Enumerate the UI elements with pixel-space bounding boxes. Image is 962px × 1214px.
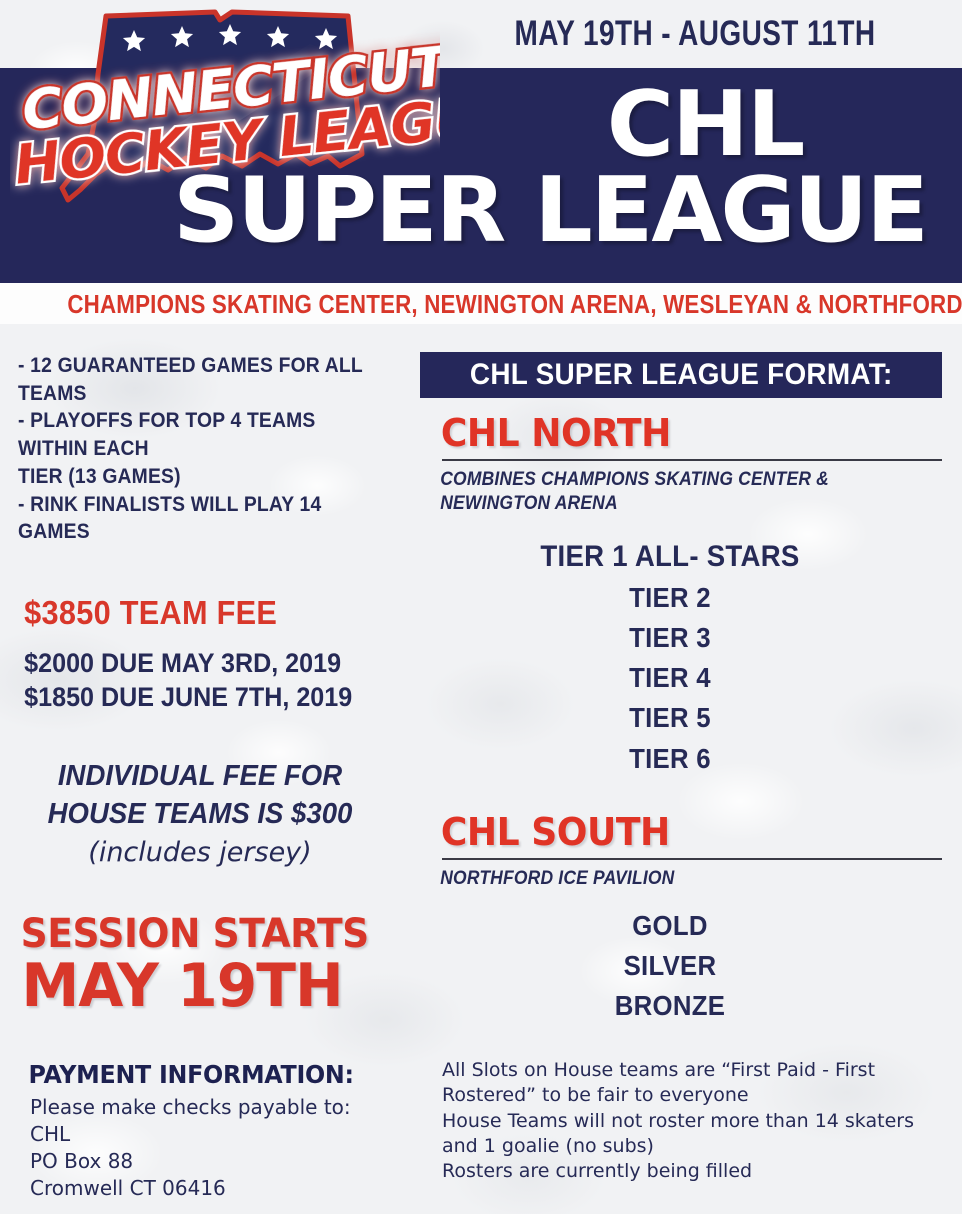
right-column: CHL SUPER LEAGUE FORMAT: CHL NORTH COMBI… — [420, 352, 962, 1184]
fee-installment-1: $2000 DUE MAY 3RD, 2019 — [0, 646, 386, 680]
region-title-south: CHL SOUTH — [420, 813, 935, 851]
list-item: TIER 3 — [440, 618, 900, 658]
payment-line: Please make checks payable to: — [30, 1094, 415, 1121]
list-item: TIER 1 ALL- STARS — [440, 536, 900, 579]
payment-information-body: Please make checks payable to: CHL PO Bo… — [0, 1094, 415, 1214]
tier-list-north: TIER 1 ALL- STARS TIER 2 TIER 3 TIER 4 T… — [420, 536, 920, 779]
poster-root: MAY 19TH - AUGUST 11TH CHL SUPER LEAGUE … — [0, 0, 962, 1214]
list-item: TIER 5 — [440, 698, 900, 738]
payment-line: Cromwell CT 06416 — [30, 1175, 415, 1202]
note-line: All Slots on House teams are “First Paid… — [442, 1058, 932, 1108]
connecticut-hockey-league-logo: CONNECTICUT HOCKEY LEAGUE — [10, 4, 440, 219]
list-item: - PLAYOFFS FOR TOP 4 TEAMS WITHIN EACH — [18, 407, 383, 462]
page-title-line1: CHL — [465, 83, 944, 167]
region-subtitle-south: NORTHFORD ICE PAVILION — [420, 867, 862, 891]
individual-fee-note: (includes jersey) — [0, 837, 400, 868]
format-heading-bar: CHL SUPER LEAGUE FORMAT: — [420, 352, 942, 398]
region-title-north: CHL NORTH — [420, 414, 935, 452]
list-item: - 12 GUARANTEED GAMES FOR ALL TEAMS — [18, 352, 383, 407]
list-item: TIER 4 — [440, 658, 900, 698]
team-fee-heading: $3850 TEAM FEE — [0, 594, 386, 632]
guarantees-list: - 12 GUARANTEED GAMES FOR ALL TEAMS - PL… — [0, 352, 415, 546]
individual-fee-line1: INDIVIDUAL FEE FOR — [10, 758, 390, 796]
left-column: - 12 GUARANTEED GAMES FOR ALL TEAMS - PL… — [0, 352, 415, 1214]
list-item: BRONZE — [440, 986, 900, 1026]
divider-north — [442, 459, 942, 461]
date-range-text: MAY 19TH - AUGUST 11TH — [491, 14, 899, 54]
individual-fee-block: INDIVIDUAL FEE FOR HOUSE TEAMS IS $300 — [10, 758, 390, 833]
list-item: TIER (13 GAMES) — [18, 463, 383, 491]
divider-south — [442, 858, 942, 860]
payment-line: CHL — [30, 1121, 415, 1148]
note-line: House Teams will not roster more than 14… — [442, 1109, 932, 1159]
list-item: SILVER — [440, 946, 900, 986]
list-item: - RINK FINALISTS WILL PLAY 14 GAMES — [18, 491, 383, 546]
format-heading-text: CHL SUPER LEAGUE FORMAT: — [470, 358, 893, 392]
logo-svg: CONNECTICUT HOCKEY LEAGUE — [10, 4, 440, 219]
spacer — [30, 1202, 415, 1214]
venue-list-text: CHAMPIONS SKATING CENTER, NEWINGTON AREN… — [67, 289, 894, 320]
session-starts-label: SESSION STARTS — [0, 914, 390, 954]
payment-line: PO Box 88 — [30, 1148, 415, 1175]
session-start-date: MAY 19TH — [0, 956, 403, 1016]
fee-installment-2: $1850 DUE JUNE 7TH, 2019 — [0, 680, 386, 714]
payment-information-heading: PAYMENT INFORMATION: — [0, 1060, 394, 1089]
list-item: GOLD — [440, 906, 900, 946]
individual-fee-line2: HOUSE TEAMS IS $300 — [10, 796, 390, 834]
division-list-south: GOLD SILVER BRONZE — [420, 906, 920, 1026]
note-line: Rosters are currently being filled — [442, 1159, 932, 1184]
list-item: TIER 2 — [440, 578, 900, 618]
roster-notes: All Slots on House teams are “First Paid… — [420, 1058, 932, 1183]
region-subtitle-north: COMBINES CHAMPIONS SKATING CENTER & NEWI… — [420, 468, 862, 516]
list-item: TIER 6 — [440, 739, 900, 779]
